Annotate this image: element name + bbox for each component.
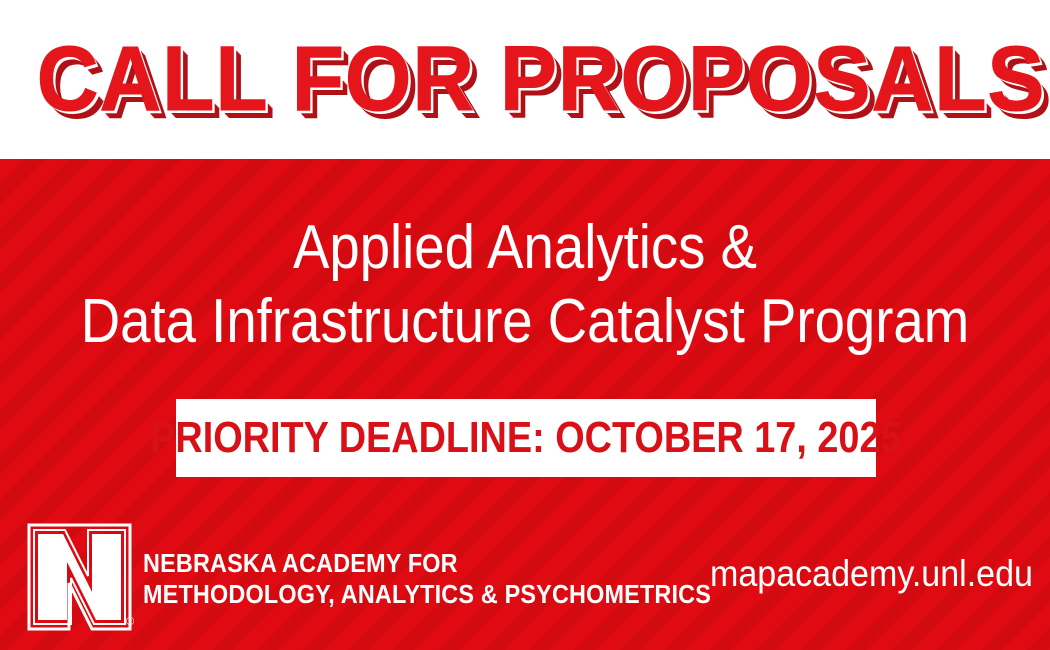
registered-trademark-icon: ®	[126, 616, 134, 628]
call-for-proposals-poster: CALL FOR PROPOSALS Applied Analytics & D…	[0, 0, 1050, 650]
program-title-line-2: Data Infrastructure Catalyst Program	[63, 285, 987, 359]
deadline-text: PRIORITY DEADLINE: OCTOBER 17, 2025	[150, 416, 901, 460]
red-striped-panel: Applied Analytics & Data Infrastructure …	[0, 159, 1050, 650]
header-band: CALL FOR PROPOSALS	[0, 0, 1050, 159]
organization-lockup: NEBRASKA ACADEMY FOR METHODOLOGY, ANALYT…	[143, 548, 711, 610]
footer: ® NEBRASKA ACADEMY FOR METHODOLOGY, ANAL…	[0, 514, 1050, 650]
deadline-banner: PRIORITY DEADLINE: OCTOBER 17, 2025	[176, 399, 876, 477]
headline-call-for-proposals: CALL FOR PROPOSALS	[37, 33, 1014, 125]
website-url[interactable]: mapacademy.unl.edu	[710, 552, 1033, 596]
nebraska-n-logo-icon: ®	[27, 523, 132, 631]
program-title-line-1: Applied Analytics &	[63, 211, 987, 285]
organization-line-2: METHODOLOGY, ANALYTICS & PSYCHOMETRICS	[143, 579, 711, 610]
organization-line-1: NEBRASKA ACADEMY FOR	[143, 548, 711, 579]
program-title: Applied Analytics & Data Infrastructure …	[63, 211, 987, 359]
